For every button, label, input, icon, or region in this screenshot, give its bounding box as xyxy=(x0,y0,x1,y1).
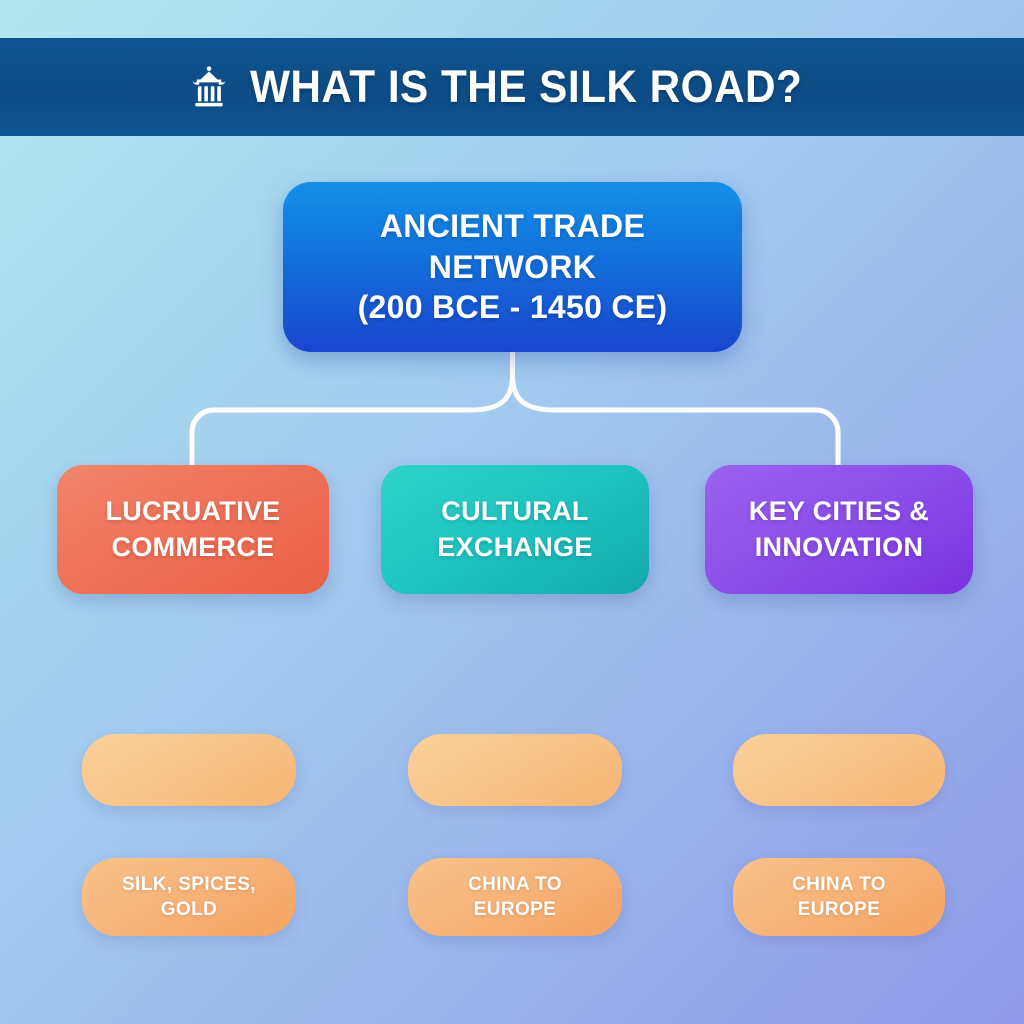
detail-pill-line-1: CHINA TO xyxy=(468,872,562,897)
category-line-2: COMMERCE xyxy=(106,530,281,565)
root-node-label: ANCIENT TRADE NETWORK (200 BCE - 1450 CE… xyxy=(358,206,668,329)
root-node-line-2: NETWORK xyxy=(358,247,668,288)
detail-pill-label: CHINA TO EUROPE xyxy=(468,872,562,922)
pagoda-icon xyxy=(186,64,232,110)
root-node-line-3: (200 BCE - 1450 CE) xyxy=(358,287,668,328)
category-node-key-cities-innovation[interactable]: KEY CITIES & INNOVATION xyxy=(705,465,973,594)
detail-pill-line-2: GOLD xyxy=(122,897,256,922)
header-inner: WHAT IS THE SILK ROAD? xyxy=(186,61,838,113)
detail-pill-china-to-europe[interactable]: CHINA TO EUROPE xyxy=(733,858,945,936)
category-line-1: KEY CITIES & xyxy=(749,494,929,529)
category-node-lucruative-commerce[interactable]: LUCRUATIVE COMMERCE xyxy=(57,465,329,594)
silk-road-infographic: WHAT IS THE SILK ROAD? ANCIENT TRADE NET… xyxy=(0,0,1024,1024)
detail-pill-silk-spices-gold[interactable]: SILK, SPICES, GOLD xyxy=(82,858,296,936)
category-line-1: CULTURAL xyxy=(437,494,592,529)
detail-pill-line-1: SILK, SPICES, xyxy=(122,872,256,897)
category-node-cultural-exchange[interactable]: CULTURAL EXCHANGE xyxy=(381,465,649,594)
page-title: WHAT IS THE SILK ROAD? xyxy=(250,61,802,113)
detail-pill-line-1: CHINA TO xyxy=(792,872,886,897)
category-line-1: LUCRUATIVE xyxy=(106,494,281,529)
category-node-label: LUCRUATIVE COMMERCE xyxy=(106,494,281,564)
category-node-label: CULTURAL EXCHANGE xyxy=(437,494,592,564)
category-line-2: EXCHANGE xyxy=(437,530,592,565)
detail-pill-label: CHINA TO EUROPE xyxy=(792,872,886,922)
category-node-label: KEY CITIES & INNOVATION xyxy=(749,494,929,564)
detail-pill-line-2: EUROPE xyxy=(792,897,886,922)
root-node-line-1: ANCIENT TRADE xyxy=(358,206,668,247)
detail-pill-empty[interactable] xyxy=(82,734,296,806)
root-node-ancient-trade-network[interactable]: ANCIENT TRADE NETWORK (200 BCE - 1450 CE… xyxy=(283,182,742,352)
detail-pill-label: SILK, SPICES, GOLD xyxy=(122,872,256,922)
detail-pill-china-to-europe[interactable]: CHINA TO EUROPE xyxy=(408,858,622,936)
detail-pill-line-2: EUROPE xyxy=(468,897,562,922)
category-line-2: INNOVATION xyxy=(749,530,929,565)
detail-pill-empty[interactable] xyxy=(733,734,945,806)
header-bar: WHAT IS THE SILK ROAD? xyxy=(0,38,1024,136)
detail-pill-empty[interactable] xyxy=(408,734,622,806)
